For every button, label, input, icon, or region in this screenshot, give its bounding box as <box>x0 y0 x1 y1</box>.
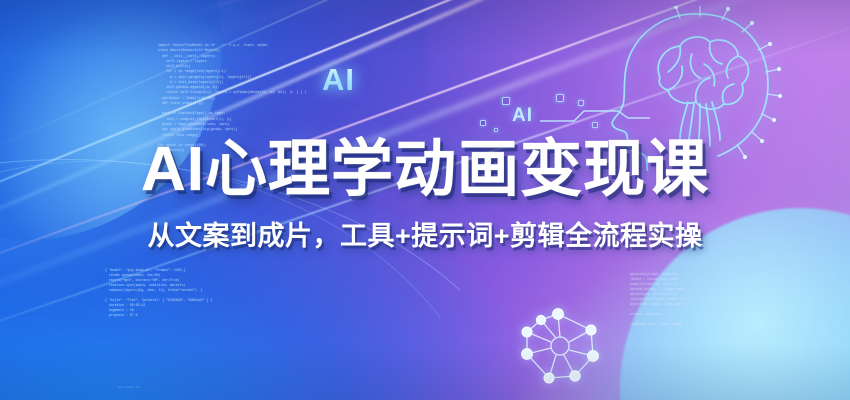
background-tint-cyan <box>510 212 850 400</box>
course-promo-banner: import TensorFlowModel as tf // x.y.z tr… <box>0 0 850 400</box>
